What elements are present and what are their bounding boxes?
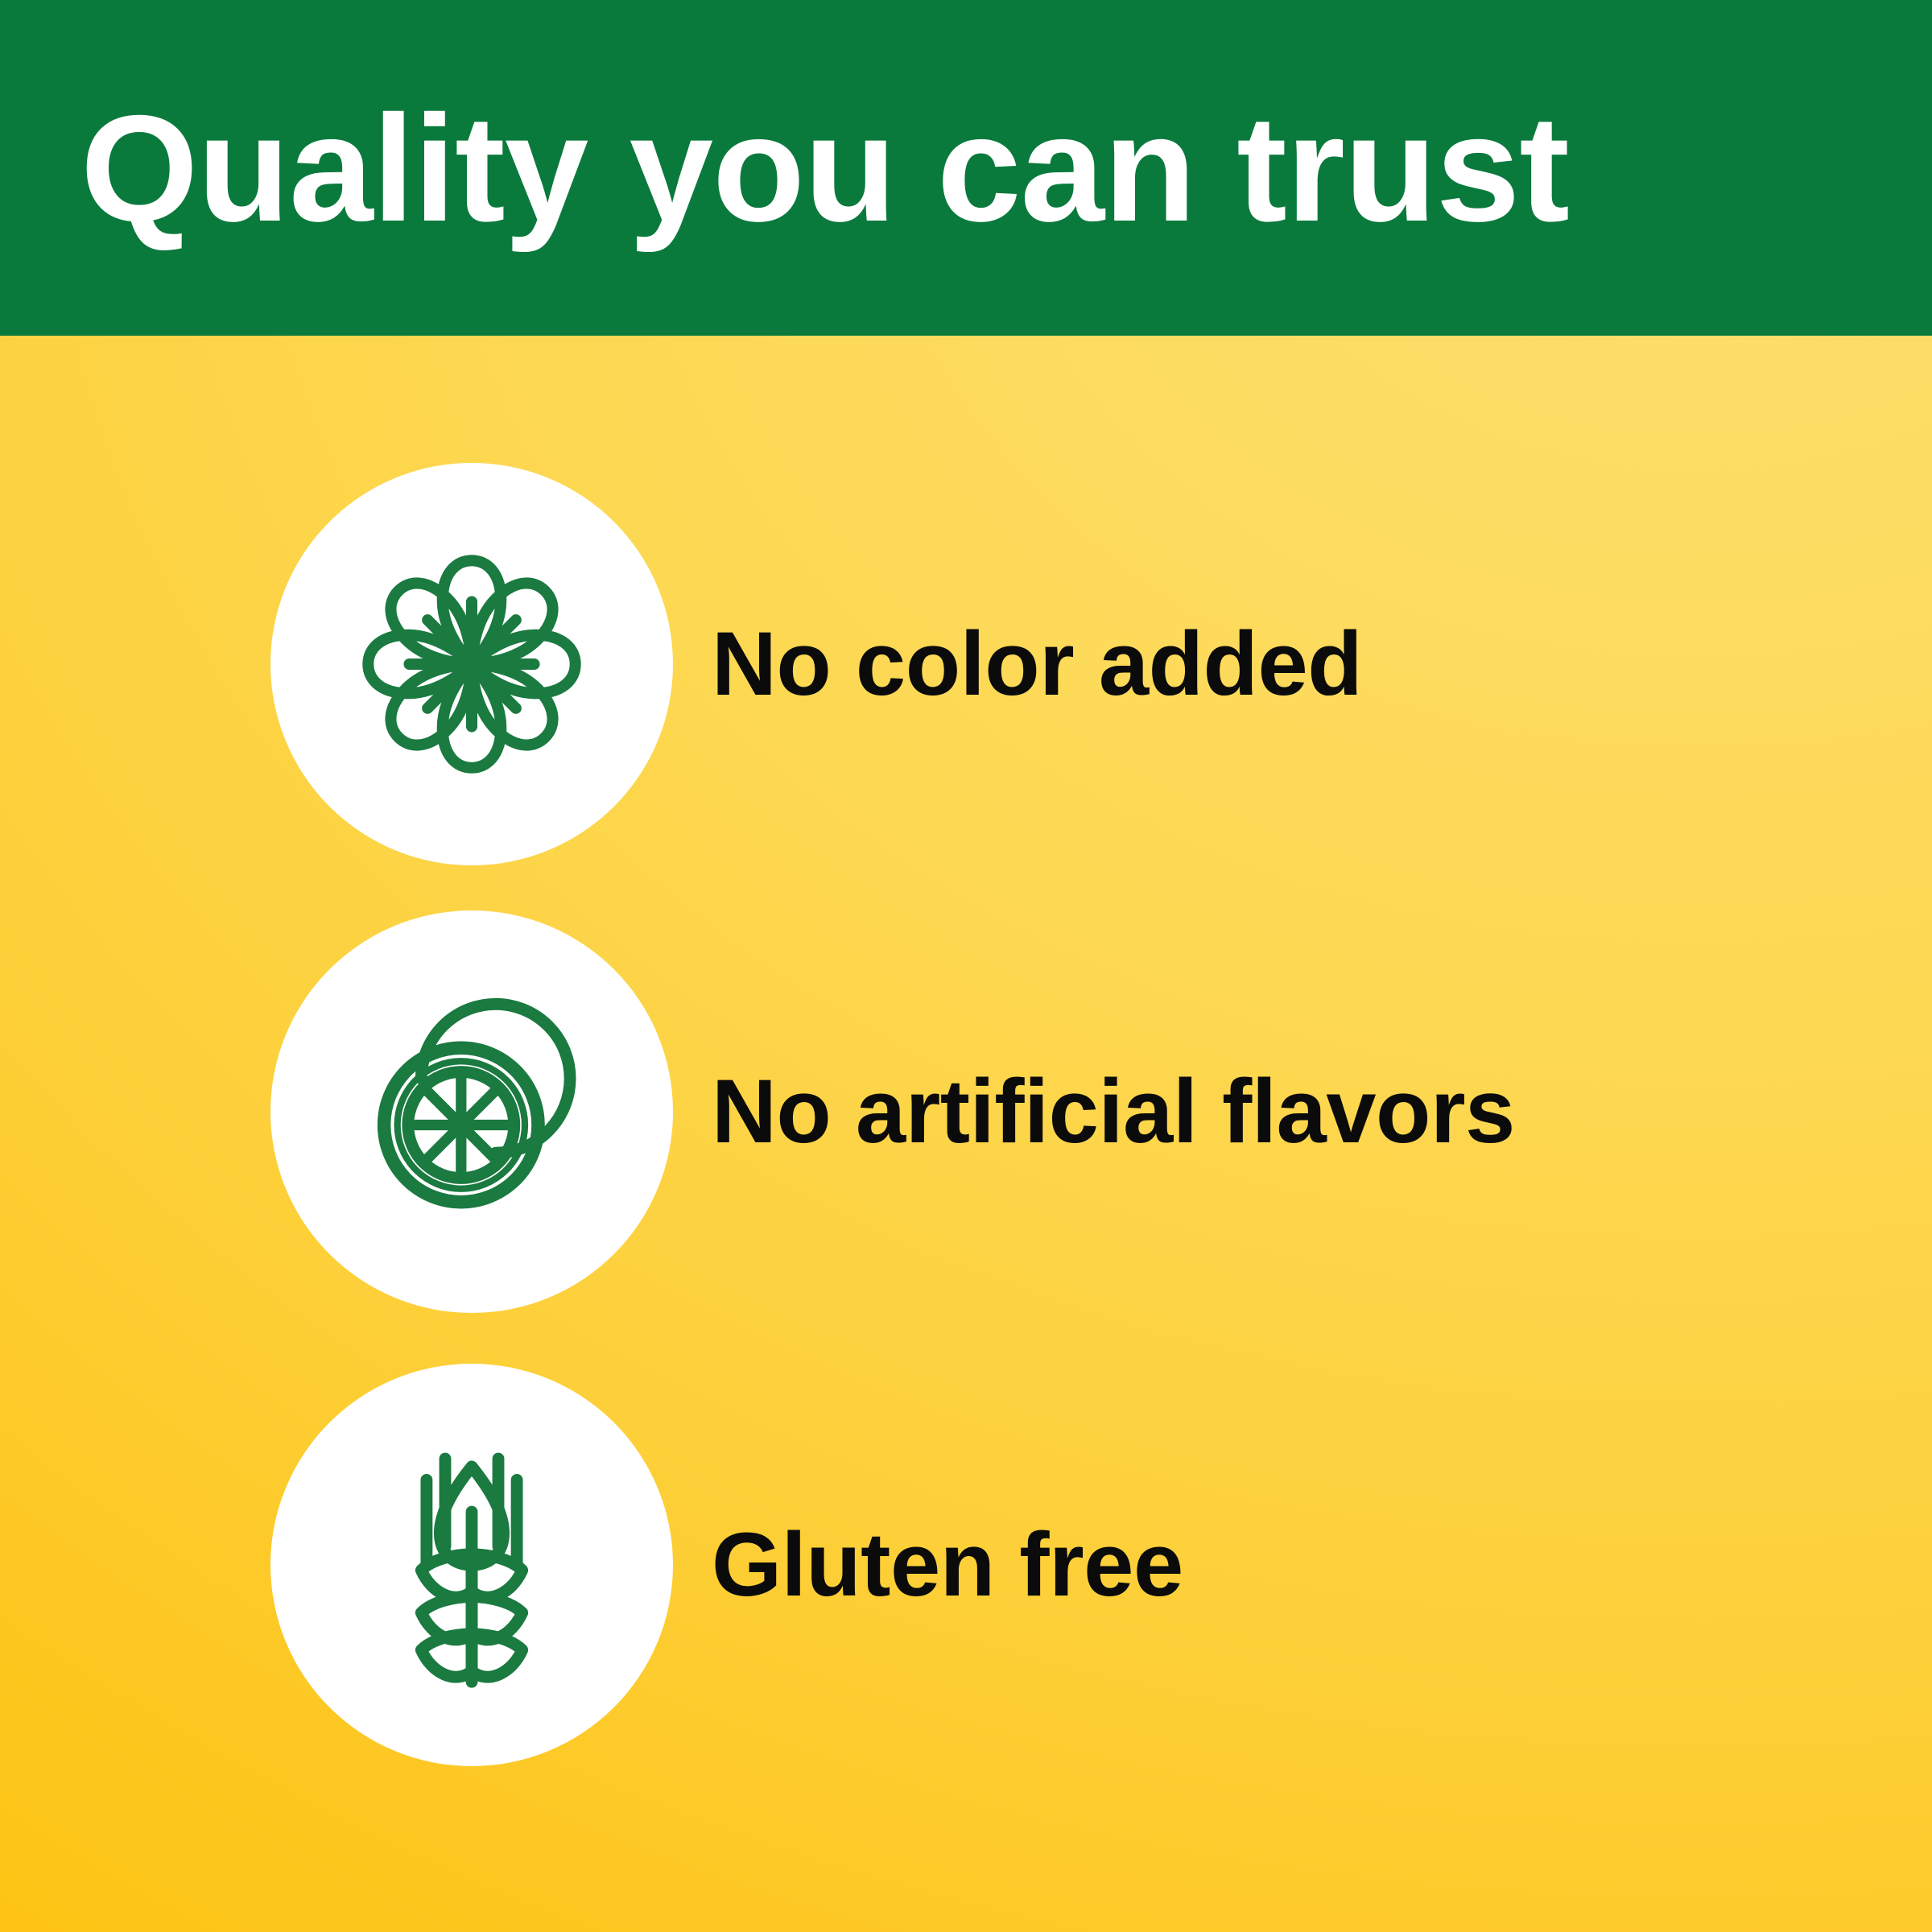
quality-claims-poster: Quality you can trust	[0, 0, 1932, 1932]
feature-label: No color added	[712, 617, 1362, 712]
feature-label: Gluten free	[712, 1517, 1183, 1612]
icon-badge-gluten-free	[270, 1364, 673, 1766]
icon-badge-no-artificial-flavors	[270, 910, 673, 1313]
header-band: Quality you can trust	[0, 0, 1932, 336]
citrus-slice-icon	[339, 979, 605, 1245]
wheat-stalk-icon	[339, 1432, 605, 1698]
page-title: Quality you can trust	[80, 0, 1868, 336]
feature-row: Gluten free	[0, 1362, 1932, 1767]
feature-list: No color added	[0, 336, 1932, 1932]
flower-burst-icon	[339, 531, 605, 797]
feature-label: No artificial flavors	[712, 1064, 1515, 1159]
feature-row: No artificial flavors	[0, 909, 1932, 1314]
feature-row: No color added	[0, 463, 1932, 865]
icon-badge-no-color-added	[270, 463, 673, 865]
